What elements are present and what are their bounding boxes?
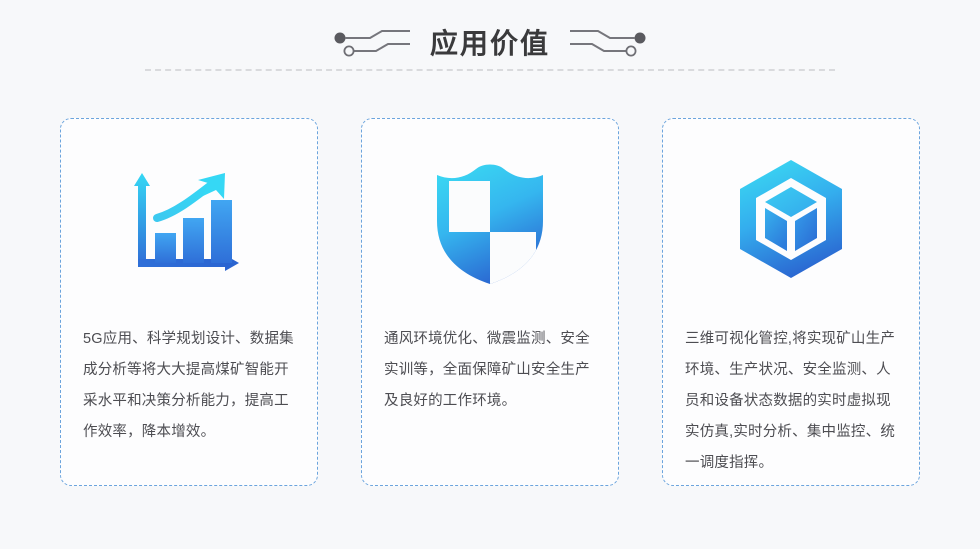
value-card-1[interactable]: 5G应用、科学规划设计、数据集成分析等将大大提高煤矿智能开采水平和决策分析能力，… (60, 118, 318, 486)
section-title-group: 应用价值 (0, 24, 980, 64)
card-2-icon-box (362, 119, 618, 324)
hexagon-cube-3d-icon (729, 157, 853, 287)
card-2-description: 通风环境优化、微震监测、安全实训等，全面保障矿山安全生产及良好的工作环境。 (384, 324, 596, 417)
value-card-3[interactable]: 三维可视化管控,将实现矿山生产环境、生产状况、安全监测、人员和设备状态数据的实时… (662, 118, 920, 486)
dashed-divider (145, 69, 835, 71)
value-cards-row: 5G应用、科学规划设计、数据集成分析等将大大提高煤矿智能开采水平和决策分析能力，… (60, 118, 920, 486)
page-header: 应用价值 (0, 0, 980, 95)
circuit-line-right-icon (570, 29, 648, 59)
value-card-2[interactable]: 通风环境优化、微震监测、安全实训等，全面保障矿山安全生产及良好的工作环境。 (361, 118, 619, 486)
card-3-description: 三维可视化管控,将实现矿山生产环境、生产状况、安全监测、人员和设备状态数据的实时… (685, 324, 897, 479)
card-3-icon-box (663, 119, 919, 324)
bar-chart-growth-icon (129, 163, 249, 281)
shield-security-icon (431, 159, 549, 285)
page-title: 应用价值 (424, 24, 556, 64)
card-1-icon-box (61, 119, 317, 324)
circuit-line-left-icon (332, 29, 410, 59)
card-1-description: 5G应用、科学规划设计、数据集成分析等将大大提高煤矿智能开采水平和决策分析能力，… (83, 324, 295, 448)
